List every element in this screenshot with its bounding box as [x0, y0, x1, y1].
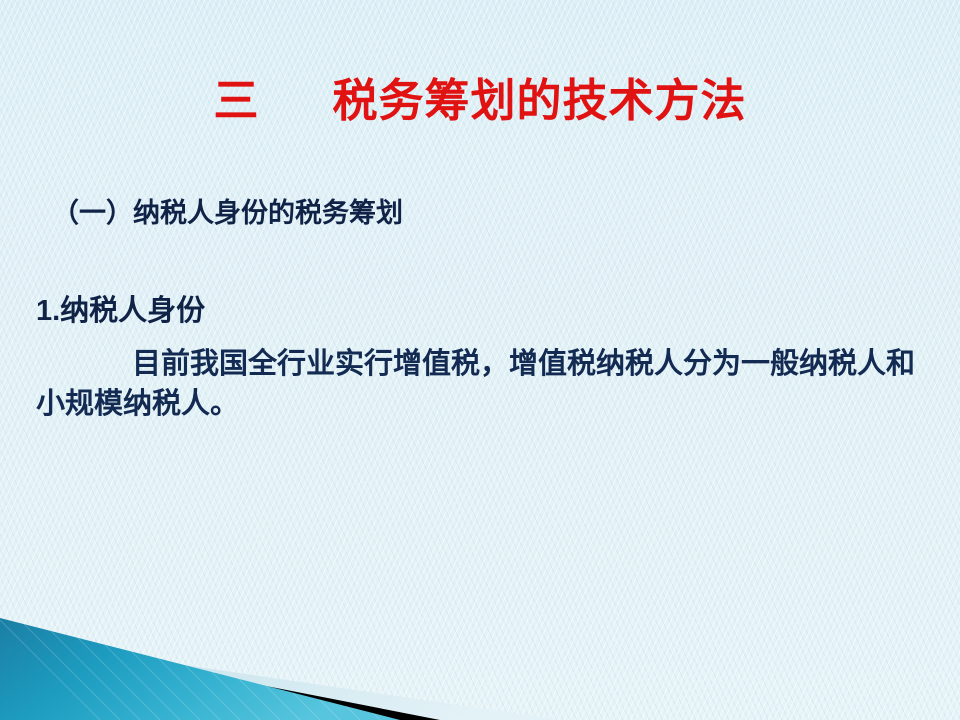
subsection-heading: （一）纳税人身份的税务筹划: [52, 197, 403, 231]
decoration-black-wedge: [0, 634, 440, 720]
decoration-blue-triangle: [0, 618, 400, 720]
body-paragraph: 目前我国全行业实行增值税，增值税纳税人分为一般纳税人和小规模纳税人。: [36, 345, 926, 424]
slide-canvas: 三 税务筹划的技术方法 （一）纳税人身份的税务筹划 1.纳税人身份 目前我国全行…: [0, 0, 960, 720]
decoration-pale-band: [0, 638, 560, 720]
decoration-blue-texture: [0, 600, 500, 720]
numbered-item-heading: 1.纳税人身份: [36, 294, 205, 329]
corner-decoration: [0, 590, 700, 720]
slide-title: 三 税务筹划的技术方法: [0, 76, 960, 126]
